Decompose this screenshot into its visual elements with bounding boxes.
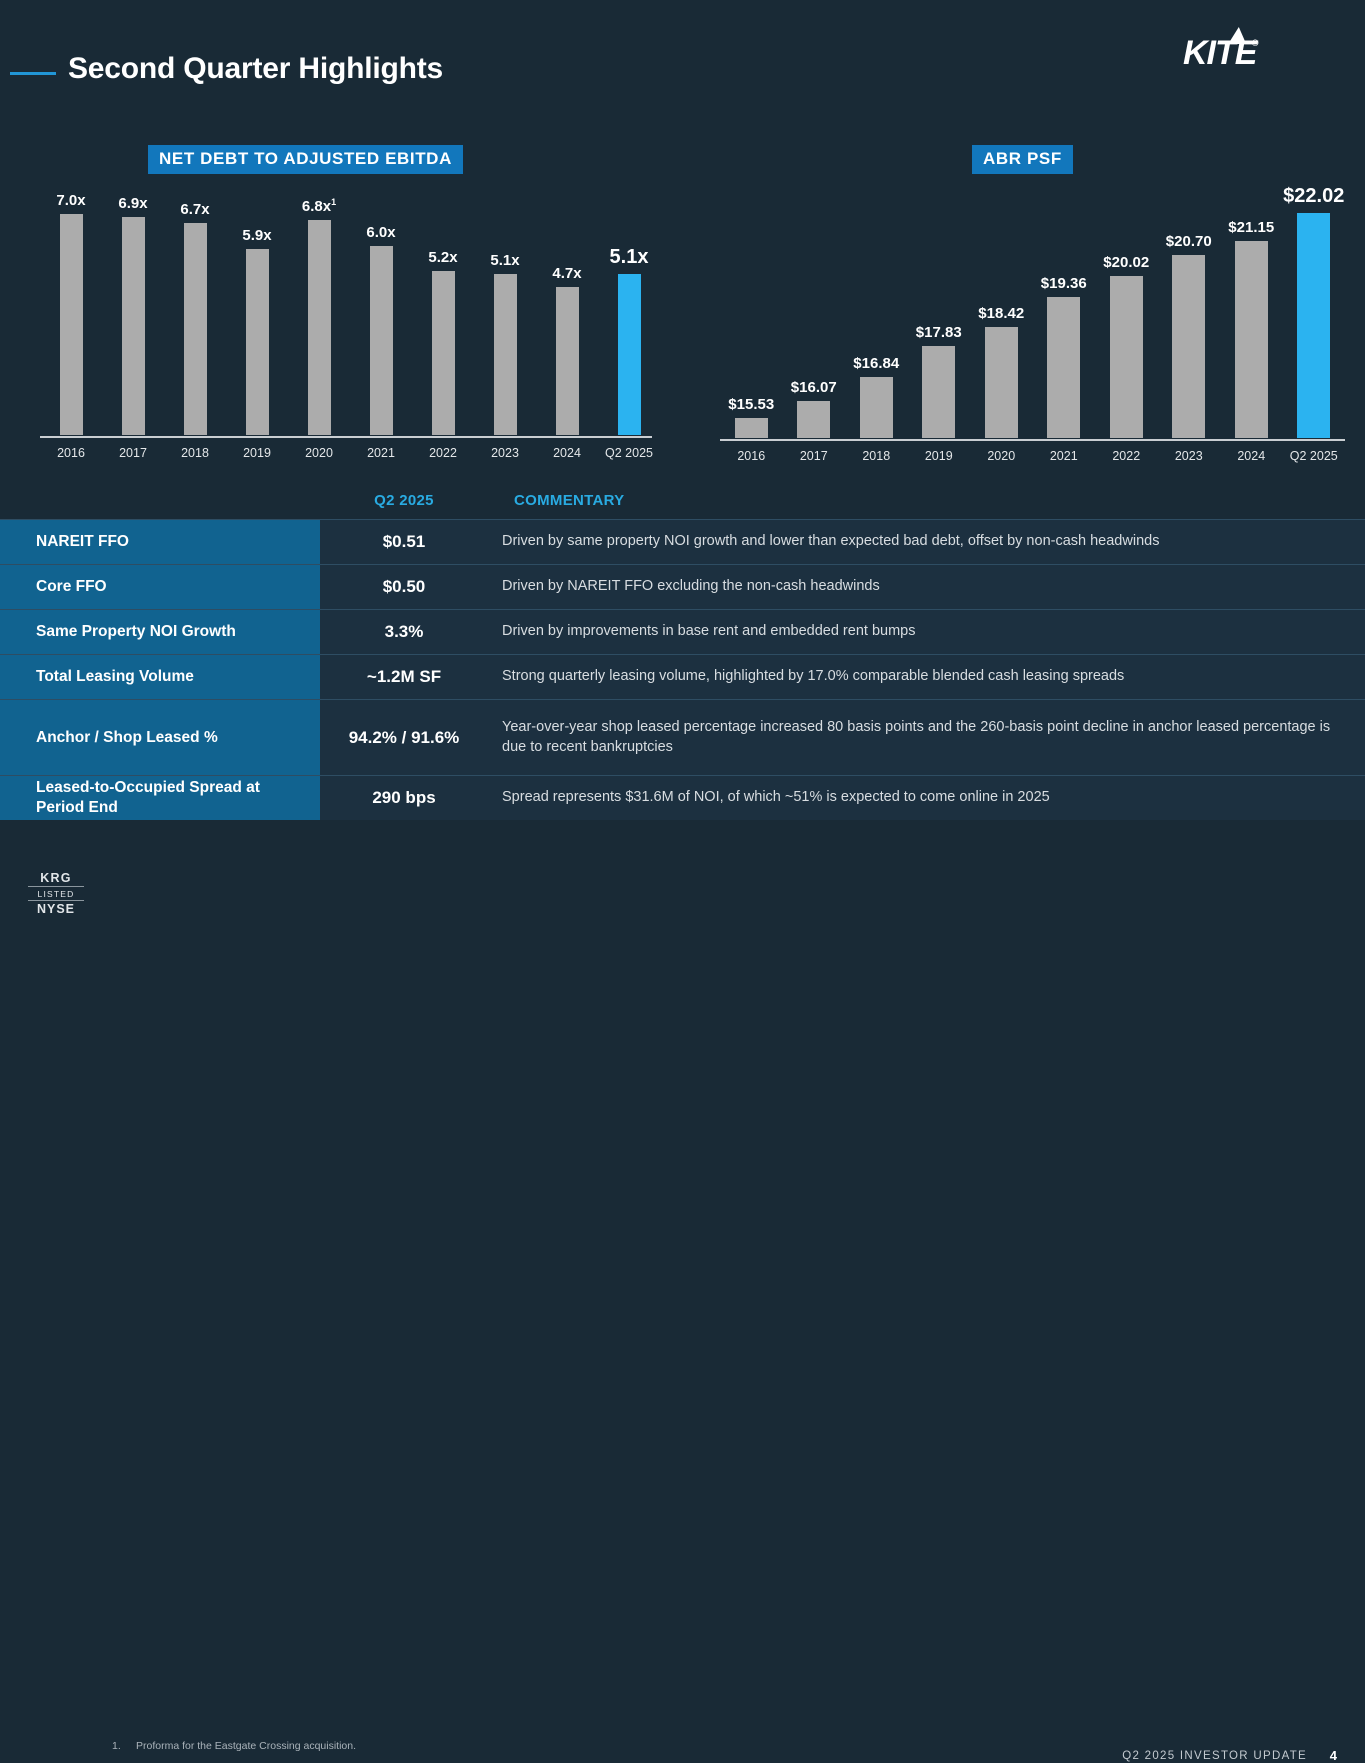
row-value: 94.2% / 91.6%: [320, 700, 488, 775]
row-metric-label: Same Property NOI Growth: [0, 610, 320, 654]
page-title: Second Quarter Highlights: [68, 52, 443, 86]
x-tick-2016: 2016: [40, 446, 102, 460]
x-tick-2016: 2016: [720, 449, 783, 463]
bar-label-2017: $16.07: [783, 379, 846, 396]
chart-abr-psf: ABR PSF $15.53$16.07$16.84$17.83$18.42$1…: [700, 140, 1365, 470]
bar-2018: [860, 377, 893, 438]
row-commentary: Spread represents $31.6M of NOI, of whic…: [488, 776, 1365, 820]
x-tick-2018: 2018: [164, 446, 226, 460]
kite-logo: KITE ®: [1183, 36, 1323, 76]
bar-label-2024: 4.7x: [536, 265, 598, 282]
bar-2018: [184, 223, 207, 435]
x-tick-2018: 2018: [845, 449, 908, 463]
bar-label-2016: 7.0x: [40, 192, 102, 209]
x-tick-2024: 2024: [536, 446, 598, 460]
bar-label-2020: $18.42: [970, 305, 1033, 322]
slide-header: Second Quarter Highlights KITE ®: [0, 0, 1365, 118]
x-tick-2022: 2022: [412, 446, 474, 460]
chart-2-title: ABR PSF: [972, 145, 1073, 174]
x-tick-2017: 2017: [783, 449, 846, 463]
x-tick-2022: 2022: [1095, 449, 1158, 463]
bar-2017: [797, 401, 830, 438]
row-commentary: Driven by same property NOI growth and l…: [488, 520, 1365, 564]
bar-2020: [308, 220, 331, 435]
bar-label-2021: $19.36: [1033, 275, 1096, 292]
chart-2-axis-line: [720, 439, 1345, 441]
table-body: NAREIT FFO$0.51Driven by same property N…: [0, 519, 1365, 820]
bar-label-2018: $16.84: [845, 355, 908, 372]
row-metric-label: Leased-to-Occupied Spread at Period End: [0, 776, 320, 820]
table-row: Total Leasing Volume~1.2M SFStrong quart…: [0, 654, 1365, 699]
bar-2024: [556, 287, 579, 435]
krg-badge-exchange: NYSE: [28, 902, 84, 916]
table-row: Same Property NOI Growth3.3%Driven by im…: [0, 609, 1365, 654]
x-tick-q2-2025: Q2 2025: [1283, 449, 1346, 463]
x-tick-2023: 2023: [474, 446, 536, 460]
registered-trademark-icon: ®: [1252, 38, 1259, 48]
x-tick-2024: 2024: [1220, 449, 1283, 463]
row-value: ~1.2M SF: [320, 655, 488, 699]
x-tick-2021: 2021: [1033, 449, 1096, 463]
row-commentary: Year-over-year shop leased percentage in…: [488, 700, 1365, 775]
bar-2022: [432, 271, 455, 435]
bar-label-2022: $20.02: [1095, 254, 1158, 271]
bar-label-2016: $15.53: [720, 396, 783, 413]
x-tick-2020: 2020: [970, 449, 1033, 463]
bar-label-2017: 6.9x: [102, 195, 164, 212]
bar-2019: [246, 249, 269, 435]
footnote-text: Proforma for the Eastgate Crossing acqui…: [136, 1740, 356, 1752]
x-tick-2019: 2019: [226, 446, 288, 460]
row-metric-label: Core FFO: [0, 565, 320, 609]
bar-2022: [1110, 276, 1143, 438]
column-header-commentary: COMMENTARY: [514, 492, 625, 509]
page-number: 4: [1330, 1748, 1337, 1763]
bar-2020: [985, 327, 1018, 438]
x-tick-q2-2025: Q2 2025: [598, 446, 660, 460]
deck-label: Q2 2025 INVESTOR UPDATE: [1122, 1750, 1307, 1762]
x-tick-2017: 2017: [102, 446, 164, 460]
x-tick-2020: 2020: [288, 446, 350, 460]
x-tick-2023: 2023: [1158, 449, 1221, 463]
row-value: $0.51: [320, 520, 488, 564]
table-row: NAREIT FFO$0.51Driven by same property N…: [0, 519, 1365, 564]
row-metric-label: Total Leasing Volume: [0, 655, 320, 699]
bar-label-2019: 5.9x: [226, 227, 288, 244]
row-value: 3.3%: [320, 610, 488, 654]
chart-1-plot-area: 7.0x6.9x6.7x5.9x6.8x16.0x5.2x5.1x4.7x5.1…: [40, 195, 660, 435]
chart-net-debt-to-adjusted-ebitda: NET DEBT TO ADJUSTED EBITDA 7.0x6.9x6.7x…: [0, 140, 680, 470]
x-tick-2021: 2021: [350, 446, 412, 460]
bar-2016: [735, 418, 768, 438]
kite-shape-icon: [1228, 27, 1250, 44]
row-commentary: Driven by NAREIT FFO excluding the non-c…: [488, 565, 1365, 609]
chart-2-plot-area: $15.53$16.07$16.84$17.83$18.42$19.36$20.…: [720, 195, 1345, 438]
bar-label-2022: 5.2x: [412, 249, 474, 266]
bar-label-q2-2025: 5.1x: [598, 246, 660, 269]
bar-2023: [1172, 255, 1205, 438]
row-value: 290 bps: [320, 776, 488, 820]
row-metric-label: NAREIT FFO: [0, 520, 320, 564]
footnote-number: 1.: [112, 1740, 121, 1752]
bar-label-2024: $21.15: [1220, 219, 1283, 236]
row-commentary: Driven by improvements in base rent and …: [488, 610, 1365, 654]
row-metric-label: Anchor / Shop Leased %: [0, 700, 320, 775]
slide-footer: KRG LISTED NYSE 1. Proforma for the East…: [0, 860, 1365, 931]
table-row: Core FFO$0.50Driven by NAREIT FFO exclud…: [0, 564, 1365, 609]
bar-2024: [1235, 241, 1268, 438]
bar-2016: [60, 214, 83, 435]
bar-q2-2025: [1297, 213, 1330, 438]
x-tick-2019: 2019: [908, 449, 971, 463]
highlights-table: Q2 2025 COMMENTARY NAREIT FFO$0.51Driven…: [0, 486, 1365, 820]
table-row: Anchor / Shop Leased %94.2% / 91.6%Year-…: [0, 699, 1365, 775]
row-value: $0.50: [320, 565, 488, 609]
bar-2021: [370, 246, 393, 435]
bar-label-2021: 6.0x: [350, 224, 412, 241]
bar-2021: [1047, 297, 1080, 438]
bar-q2-2025: [618, 274, 641, 435]
column-header-q2-2025: Q2 2025: [320, 492, 488, 509]
krg-badge-ticker: KRG: [28, 871, 84, 885]
table-row: Leased-to-Occupied Spread at Period End2…: [0, 775, 1365, 820]
bar-2017: [122, 217, 145, 435]
bar-label-2020: 6.8x1: [288, 197, 350, 215]
chart-1-axis-line: [40, 436, 652, 438]
bar-label-2023: $20.70: [1158, 233, 1221, 250]
bar-label-2023: 5.1x: [474, 252, 536, 269]
krg-nyse-listed-badge: KRG LISTED NYSE: [28, 871, 84, 916]
table-header-row: Q2 2025 COMMENTARY: [0, 486, 1365, 519]
row-commentary: Strong quarterly leasing volume, highlig…: [488, 655, 1365, 699]
bar-label-q2-2025: $22.02: [1283, 185, 1346, 208]
bar-label-2018: 6.7x: [164, 201, 226, 218]
bar-2023: [494, 274, 517, 435]
chart-1-title: NET DEBT TO ADJUSTED EBITDA: [148, 145, 463, 174]
bar-label-2019: $17.83: [908, 324, 971, 341]
title-accent-rule: [10, 72, 56, 75]
krg-badge-listed: LISTED: [28, 886, 84, 901]
bar-2019: [922, 346, 955, 438]
